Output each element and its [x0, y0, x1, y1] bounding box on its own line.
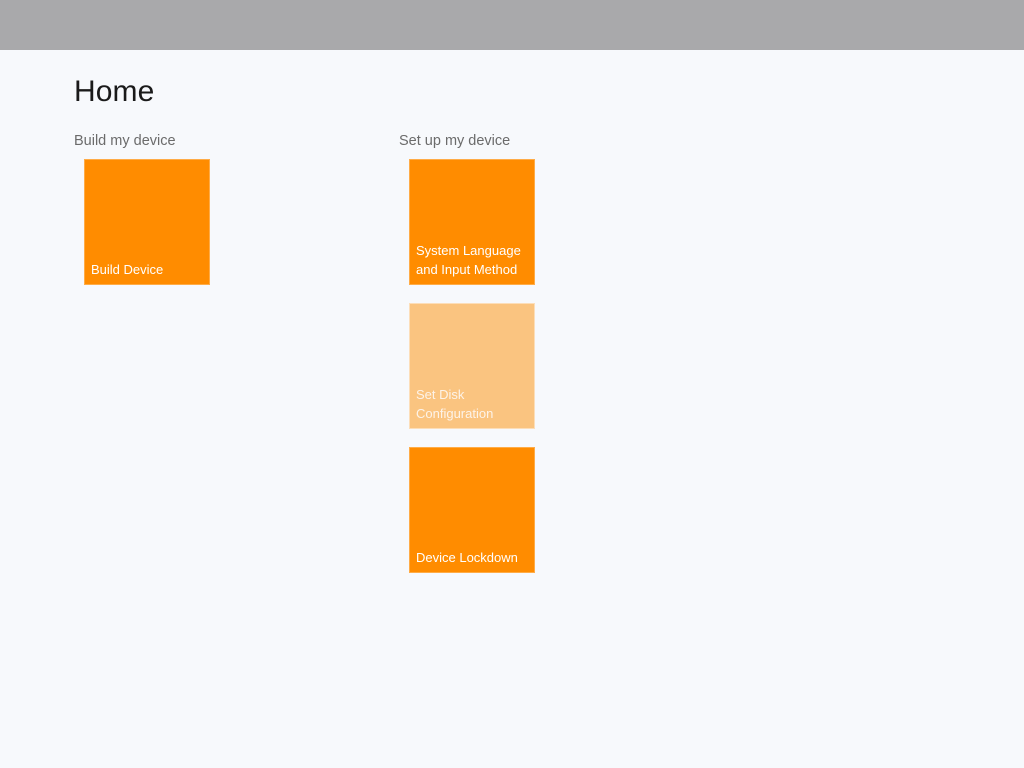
page-title: Home	[74, 74, 154, 110]
group-header-set-up-my-device: Set up my device	[399, 132, 535, 150]
tile-build-device[interactable]: Build Device	[84, 159, 210, 285]
group-header-build-my-device: Build my device	[74, 132, 210, 150]
tile-group-set-up-my-device: Set up my device System Language and Inp…	[399, 132, 535, 573]
tile-set-disk-configuration[interactable]: Set Disk Configuration	[409, 303, 535, 429]
tile-label-device-lockdown: Device Lockdown	[416, 548, 530, 567]
tile-stack-set-up-my-device: System Language and Input Method Set Dis…	[399, 159, 535, 573]
tile-group-build-my-device: Build my device Build Device	[74, 132, 210, 285]
tile-system-language-and-input-method[interactable]: System Language and Input Method	[409, 159, 535, 285]
page-content: Home Build my device Build Device Set up…	[0, 50, 1024, 768]
tile-label-system-language-and-input-method: System Language and Input Method	[416, 241, 530, 279]
tile-stack-build-my-device: Build Device	[74, 159, 210, 285]
tile-device-lockdown[interactable]: Device Lockdown	[409, 447, 535, 573]
tile-label-build-device: Build Device	[91, 260, 205, 279]
tile-label-set-disk-configuration: Set Disk Configuration	[416, 385, 530, 423]
window-title-bar	[0, 0, 1024, 50]
